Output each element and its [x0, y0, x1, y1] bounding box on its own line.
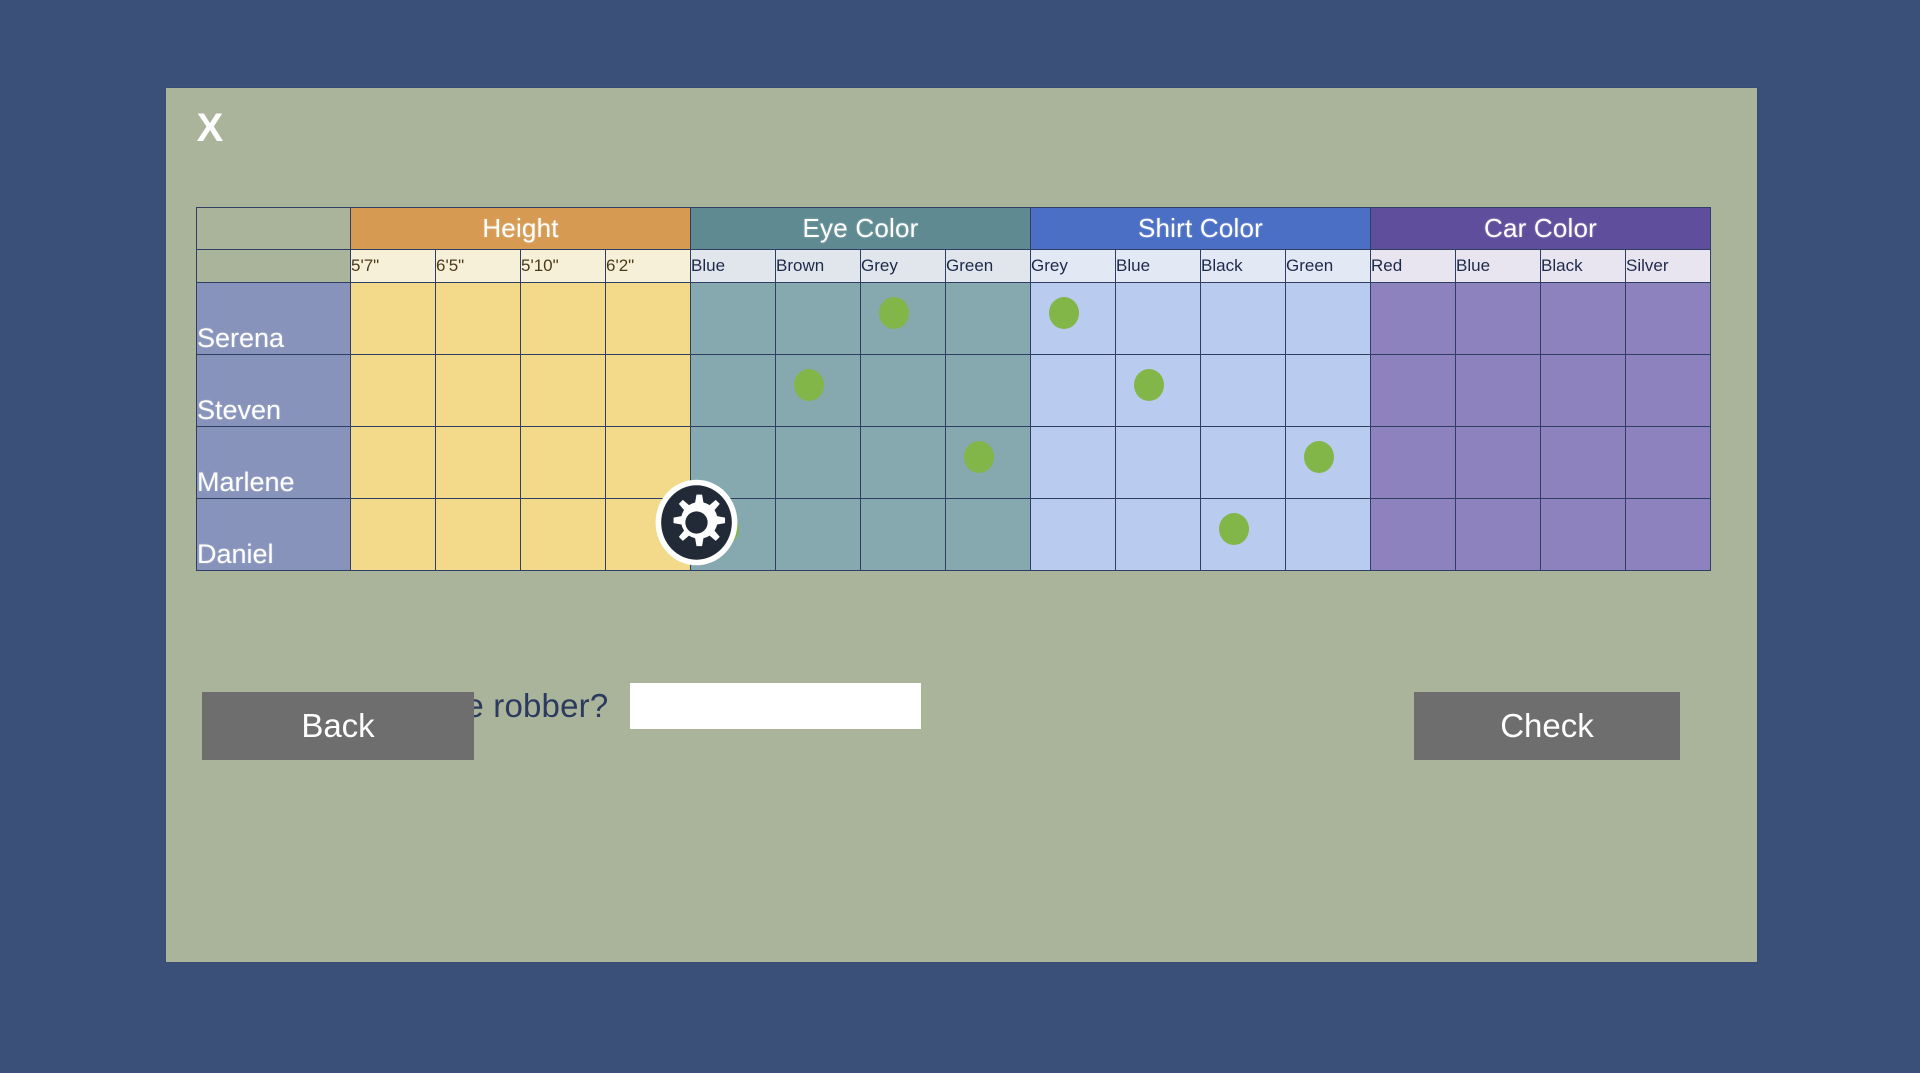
grid-corner-blank-2 — [197, 250, 351, 283]
table-row: Serena — [197, 283, 1711, 355]
sub-header-car-2: Black — [1541, 250, 1626, 283]
close-icon[interactable]: X — [188, 104, 232, 152]
puzzle-panel: X Height Eye Color Shirt Color Car Color… — [166, 88, 1757, 962]
table-row: Daniel — [197, 499, 1711, 571]
grid-cell-marlene-car-2[interactable] — [1541, 427, 1626, 499]
grid-cell-daniel-car-0[interactable] — [1371, 499, 1456, 571]
sub-header-eye-2: Grey — [861, 250, 946, 283]
group-header-height: Height — [351, 208, 691, 250]
grid-cell-daniel-shirt-2[interactable] — [1201, 499, 1286, 571]
grid-cell-serena-eye-3[interactable] — [946, 283, 1031, 355]
mark-dot — [1049, 297, 1079, 329]
grid-cell-serena-shirt-0[interactable] — [1031, 283, 1116, 355]
grid-cell-serena-height-0[interactable] — [351, 283, 436, 355]
sub-header-height-3: 6'2" — [606, 250, 691, 283]
grid-cell-serena-eye-1[interactable] — [776, 283, 861, 355]
group-header-eye-color: Eye Color — [691, 208, 1031, 250]
grid-cell-daniel-eye-3[interactable] — [946, 499, 1031, 571]
sub-header-shirt-0: Grey — [1031, 250, 1116, 283]
grid-cell-steven-car-1[interactable] — [1456, 355, 1541, 427]
grid-cell-serena-car-3[interactable] — [1626, 283, 1711, 355]
grid-cell-marlene-eye-3[interactable] — [946, 427, 1031, 499]
grid-cell-steven-eye-0[interactable] — [691, 355, 776, 427]
grid-cell-steven-car-2[interactable] — [1541, 355, 1626, 427]
grid-cell-daniel-car-3[interactable] — [1626, 499, 1711, 571]
grid-cell-steven-eye-1[interactable] — [776, 355, 861, 427]
grid-cell-steven-height-0[interactable] — [351, 355, 436, 427]
grid-cell-steven-height-1[interactable] — [436, 355, 521, 427]
sub-header-eye-3: Green — [946, 250, 1031, 283]
grid-cell-marlene-eye-2[interactable] — [861, 427, 946, 499]
grid-cell-daniel-height-1[interactable] — [436, 499, 521, 571]
grid-cell-daniel-eye-1[interactable] — [776, 499, 861, 571]
answer-input[interactable] — [630, 683, 921, 729]
grid-cell-serena-car-2[interactable] — [1541, 283, 1626, 355]
grid-cell-serena-eye-0[interactable] — [691, 283, 776, 355]
sub-header-car-3: Silver — [1626, 250, 1711, 283]
grid-cell-daniel-shirt-3[interactable] — [1286, 499, 1371, 571]
grid-cell-marlene-height-2[interactable] — [521, 427, 606, 499]
grid-cell-marlene-shirt-2[interactable] — [1201, 427, 1286, 499]
grid-cell-steven-car-0[interactable] — [1371, 355, 1456, 427]
grid-cell-serena-height-2[interactable] — [521, 283, 606, 355]
grid-cell-marlene-height-3[interactable] — [606, 427, 691, 499]
sub-header-shirt-3: Green — [1286, 250, 1371, 283]
grid-cell-marlene-height-0[interactable] — [351, 427, 436, 499]
row-label-serena: Serena — [197, 283, 351, 355]
grid-cell-daniel-car-2[interactable] — [1541, 499, 1626, 571]
grid-cell-marlene-shirt-3[interactable] — [1286, 427, 1371, 499]
mark-dot — [1134, 369, 1164, 401]
grid-cell-daniel-shirt-1[interactable] — [1116, 499, 1201, 571]
grid-cell-daniel-height-3[interactable] — [606, 499, 691, 571]
sub-header-height-0: 5'7" — [351, 250, 436, 283]
sub-header-shirt-1: Blue — [1116, 250, 1201, 283]
sub-header-car-1: Blue — [1456, 250, 1541, 283]
grid-cell-serena-shirt-1[interactable] — [1116, 283, 1201, 355]
grid-cell-serena-shirt-3[interactable] — [1286, 283, 1371, 355]
grid-cell-daniel-eye-2[interactable] — [861, 499, 946, 571]
grid-cell-marlene-shirt-0[interactable] — [1031, 427, 1116, 499]
grid-cell-marlene-height-1[interactable] — [436, 427, 521, 499]
back-button[interactable]: Back — [202, 692, 474, 760]
sub-header-height-2: 5'10" — [521, 250, 606, 283]
grid-cell-steven-shirt-0[interactable] — [1031, 355, 1116, 427]
grid-cell-serena-shirt-2[interactable] — [1201, 283, 1286, 355]
grid-cell-serena-height-3[interactable] — [606, 283, 691, 355]
grid-cell-steven-shirt-1[interactable] — [1116, 355, 1201, 427]
logic-grid: Height Eye Color Shirt Color Car Color 5… — [196, 207, 1711, 571]
group-header-shirt-color: Shirt Color — [1031, 208, 1371, 250]
grid-cell-daniel-car-1[interactable] — [1456, 499, 1541, 571]
sub-header-car-0: Red — [1371, 250, 1456, 283]
grid-cell-serena-eye-2[interactable] — [861, 283, 946, 355]
grid-cell-serena-height-1[interactable] — [436, 283, 521, 355]
mark-dot — [964, 441, 994, 473]
logic-grid-table: Height Eye Color Shirt Color Car Color 5… — [196, 207, 1711, 571]
sub-header-height-1: 6'5" — [436, 250, 521, 283]
sub-header-eye-1: Brown — [776, 250, 861, 283]
grid-corner-blank — [197, 208, 351, 250]
grid-cell-marlene-car-1[interactable] — [1456, 427, 1541, 499]
group-header-car-color: Car Color — [1371, 208, 1711, 250]
grid-cell-marlene-eye-0[interactable] — [691, 427, 776, 499]
mark-dot — [1219, 513, 1249, 545]
mark-dot — [794, 369, 824, 401]
sub-header-eye-0: Blue — [691, 250, 776, 283]
grid-cell-steven-height-2[interactable] — [521, 355, 606, 427]
row-label-marlene: Marlene — [197, 427, 351, 499]
group-header-row: Height Eye Color Shirt Color Car Color — [197, 208, 1711, 250]
grid-cell-steven-car-3[interactable] — [1626, 355, 1711, 427]
grid-cell-daniel-shirt-0[interactable] — [1031, 499, 1116, 571]
mark-dot — [879, 297, 909, 329]
row-label-daniel: Daniel — [197, 499, 351, 571]
grid-cell-steven-eye-3[interactable] — [946, 355, 1031, 427]
sub-header-shirt-2: Black — [1201, 250, 1286, 283]
grid-cell-marlene-eye-1[interactable] — [776, 427, 861, 499]
grid-cell-steven-shirt-3[interactable] — [1286, 355, 1371, 427]
check-button[interactable]: Check — [1414, 692, 1680, 760]
grid-cell-steven-eye-2[interactable] — [861, 355, 946, 427]
grid-cell-daniel-eye-0[interactable] — [691, 499, 776, 571]
mark-dot — [709, 513, 739, 545]
grid-cell-marlene-shirt-1[interactable] — [1116, 427, 1201, 499]
grid-cell-marlene-car-3[interactable] — [1626, 427, 1711, 499]
grid-cell-serena-car-0[interactable] — [1371, 283, 1456, 355]
table-row: Marlene — [197, 427, 1711, 499]
mark-dot — [1304, 441, 1334, 473]
grid-cell-steven-height-3[interactable] — [606, 355, 691, 427]
table-row: Steven — [197, 355, 1711, 427]
row-label-steven: Steven — [197, 355, 351, 427]
grid-cell-daniel-height-0[interactable] — [351, 499, 436, 571]
grid-cell-serena-car-1[interactable] — [1456, 283, 1541, 355]
grid-cell-steven-shirt-2[interactable] — [1201, 355, 1286, 427]
grid-cell-daniel-height-2[interactable] — [521, 499, 606, 571]
sub-header-row: 5'7" 6'5" 5'10" 6'2" Blue Brown Grey Gre… — [197, 250, 1711, 283]
grid-cell-marlene-car-0[interactable] — [1371, 427, 1456, 499]
